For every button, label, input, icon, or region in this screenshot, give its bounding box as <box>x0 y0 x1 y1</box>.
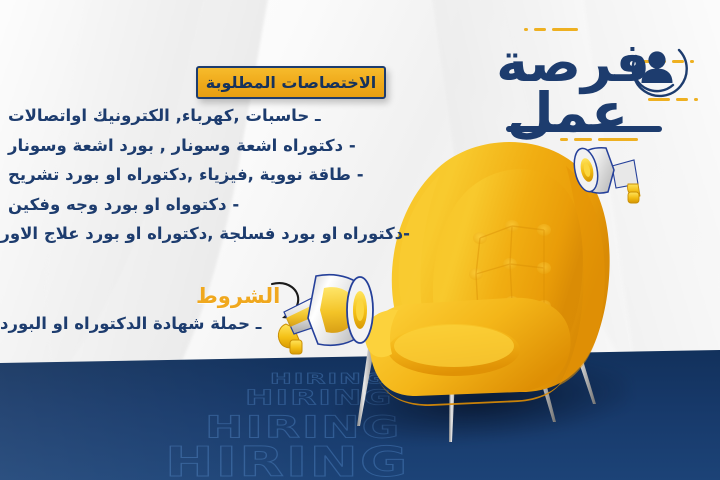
megaphone-icon <box>572 144 646 210</box>
list-item: - دكتوواه او بورد وجه وفكين <box>0 197 410 214</box>
list-item: - طاقة نووية ,فيزياء ,دكتوراه او بورد تش… <box>0 167 410 184</box>
list-item: - دكتوراه اشعة وسونار , بورد اشعة وسونار <box>0 138 410 155</box>
list-item: ـ حاسبات ,كهرباء, الكترونيك اواتصالات <box>0 108 410 125</box>
section-title-banner: الاختصاصات المطلوبة <box>196 66 386 99</box>
person-badge-icon <box>624 34 690 100</box>
conditions-item: ـ حملة شهادة الدكتوراه او البورد <box>0 316 272 333</box>
job-opportunity-poster: HIRING HIRING HIRING HIRING <box>0 0 720 480</box>
headline-kashida-bar <box>506 126 662 132</box>
megaphone-icon <box>272 262 384 362</box>
headline-block: فرصة عمل <box>408 14 698 139</box>
list-item: -دكتوراه او بورد فسلجة ,دكتوراه او بورد … <box>0 226 410 243</box>
requirements-list: ـ حاسبات ,كهرباء, الكترونيك اواتصالات - … <box>0 108 410 256</box>
section-title-label: الاختصاصات المطلوبة <box>206 75 376 91</box>
